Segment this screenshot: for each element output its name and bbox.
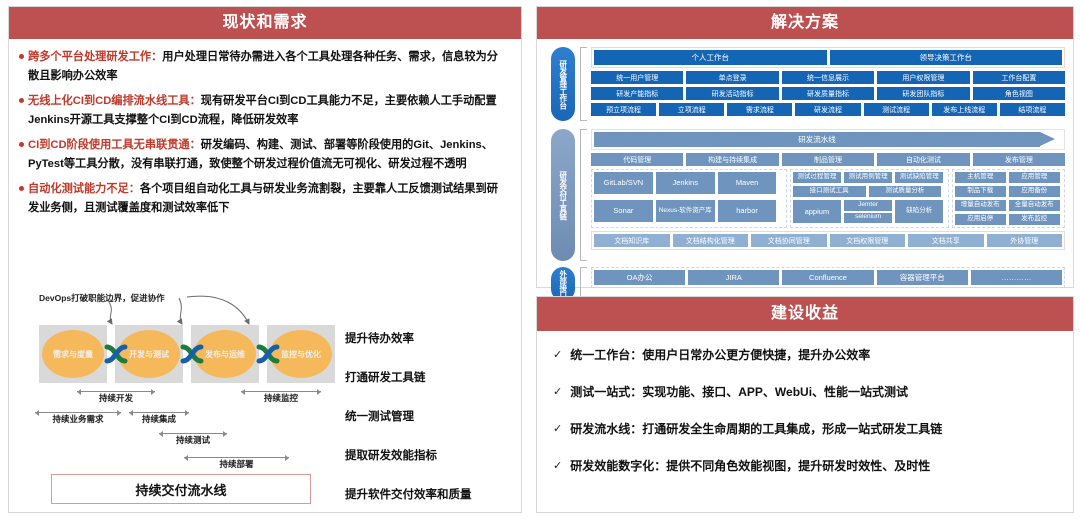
tool-cell[interactable]: 缺陷分析 xyxy=(895,200,943,223)
arch-cell[interactable]: 测试流程 xyxy=(864,103,929,116)
arch-cell[interactable]: 文档权限管理 xyxy=(830,234,906,247)
panel-title-benefits: 建设收益 xyxy=(537,297,1073,331)
tool-cell[interactable]: 制品下载 xyxy=(955,186,1006,197)
measure-span: 持续开发 xyxy=(77,388,155,410)
pipeline-stage-row: 代码管理 构建与持续集成 制品管理 自动化测试 发布管理 xyxy=(591,153,1065,166)
tool-cell[interactable]: selenium xyxy=(844,213,892,224)
benefit-title: 研发流水线： xyxy=(570,422,642,436)
arch-cell[interactable]: 文档结构化管理 xyxy=(673,234,749,247)
panel-solution: 解决方案 研发管理工作台 研发交付工具链 外部接口 个人工作台 领导决策工作台 … xyxy=(536,6,1074,288)
arch-side-label-toolchain: 研发交付工具链 xyxy=(551,129,575,261)
arch-cell[interactable]: 研发流程 xyxy=(795,103,860,116)
status-bullet-list: 跨多个平台处理研发工作：用户处理日常待办需进入各个工具处理各种任务、需求，信息较… xyxy=(9,39,521,218)
tool-box-test: 测试过程管理 测试用例管理 测试缺陷管理 接口测试工具 测试质量分析 appiu… xyxy=(790,169,949,228)
check-icon: ✓ xyxy=(553,384,562,401)
check-icon: ✓ xyxy=(553,458,562,475)
tool-cell[interactable]: 应用备份 xyxy=(1009,186,1060,197)
measure-span: 持续集成 xyxy=(129,409,189,431)
check-icon: ✓ xyxy=(553,421,562,438)
measure-label: 持续测试 xyxy=(159,434,227,446)
tool-cell[interactable]: Nexus-软件资产库 xyxy=(656,200,715,222)
arch-cell[interactable]: 统一用户管理 xyxy=(591,71,683,84)
list-item: 提升软件交付效率和质量 xyxy=(345,474,520,513)
measure-span: 持续业务需求 xyxy=(35,409,121,431)
list-item: 跨多个平台处理研发工作：用户处理日常待办需进入各个工具处理各种任务、需求，信息较… xyxy=(19,48,509,86)
check-icon: ✓ xyxy=(553,347,562,364)
arch-cell[interactable]: 领导决策工作台 xyxy=(830,50,1063,65)
arch-cell[interactable]: Confluence xyxy=(782,270,873,285)
tool-cell[interactable]: 测试质量分析 xyxy=(869,186,942,197)
arch-cell[interactable]: 自动化测试 xyxy=(877,153,969,166)
infinity-icon xyxy=(255,341,281,367)
measure-label: 持续业务需求 xyxy=(35,413,121,425)
benefit-title: 统一工作台： xyxy=(570,348,642,362)
panel-current-status: 现状和需求 跨多个平台处理研发工作：用户处理日常待办需进入各个工具处理各种任务、… xyxy=(8,6,522,513)
arch-cell[interactable]: 角色视图 xyxy=(973,87,1065,100)
tool-box-scm: GitLab/SVN Jenkins Maven Sonar Nexus-软件资… xyxy=(591,169,787,228)
bracket-decoration xyxy=(580,47,587,121)
tool-cell[interactable]: 全量自动发布 xyxy=(1009,200,1060,211)
bullet-dot-icon xyxy=(19,186,24,191)
list-item: ✓ 研发流水线：打通研发全生命周期的工具集成，形成一站式研发工具链 xyxy=(553,421,1059,438)
benefit-body: 实现功能、接口、APP、WebUi、性能一站式测试 xyxy=(642,385,908,399)
arch-cell[interactable]: 统一信息展示 xyxy=(782,71,874,84)
slide-canvas: 现状和需求 跨多个平台处理研发工作：用户处理日常待办需进入各个工具处理各种任务、… xyxy=(0,0,1080,519)
arch-group-workbench: 个人工作台 领导决策工作台 统一用户管理 单点登录 统一信息展示 用户权限管理 … xyxy=(591,47,1065,116)
tool-cell[interactable]: Maven xyxy=(718,172,777,194)
devops-stage-label: 需求与度量 xyxy=(42,330,104,378)
bullet-title: 自动化测试能力不足： xyxy=(28,183,140,195)
arch-cell[interactable]: 研发产能指标 xyxy=(591,87,683,100)
infinity-icon xyxy=(103,341,129,367)
tool-cell[interactable]: Jemter xyxy=(844,200,892,211)
tool-cell[interactable]: 测试缺陷管理 xyxy=(895,172,943,183)
list-item: ✓ 研发效能数字化：提供不同角色效能视图，提升研发时效性、及时性 xyxy=(553,458,1059,475)
benefit-title: 测试一站式： xyxy=(570,385,642,399)
panel-title-solution: 解决方案 xyxy=(537,7,1073,39)
measure-label: 持续集成 xyxy=(129,413,189,425)
arch-cell[interactable]: 文档知识库 xyxy=(594,234,670,247)
list-item: 自动化测试能力不足：各个项目组自动化工具与研发业务流割裂，主要靠人工反馈测试结果… xyxy=(19,180,509,218)
tool-cell[interactable]: 应用启停 xyxy=(955,214,1006,225)
arch-side-label-workbench: 研发管理工作台 xyxy=(551,47,575,121)
devops-stage-row: 需求与度量 开发与测试 发布与运维 监控与优化 xyxy=(39,325,329,383)
measure-label: 持续监控 xyxy=(241,392,321,404)
tool-cell[interactable]: 测试过程管理 xyxy=(793,172,841,183)
bullet-title: CI到CD阶段使用工具无串联贯通： xyxy=(28,139,201,151)
list-item: 提取研发效能指标 xyxy=(345,435,520,474)
list-item: ✓ 测试一站式：实现功能、接口、APP、WebUi、性能一站式测试 xyxy=(553,384,1059,401)
arch-cell[interactable]: 构建与持续集成 xyxy=(686,153,778,166)
arch-cell[interactable]: 单点登录 xyxy=(686,71,778,84)
measure-span: 持续部署 xyxy=(184,454,289,476)
tool-cell[interactable]: GitLab/SVN xyxy=(594,172,653,194)
arch-cell[interactable]: 发布管理 xyxy=(973,153,1065,166)
tool-cell[interactable]: 发布监控 xyxy=(1009,214,1060,225)
arch-cell[interactable]: 制品管理 xyxy=(782,153,874,166)
benefits-checklist: ✓ 统一工作台：使用户日常办公更方便快捷，提升办公效率 ✓ 测试一站式：实现功能… xyxy=(537,331,1073,475)
arch-group-toolchain: 研发流水线 代码管理 构建与持续集成 制品管理 自动化测试 发布管理 GitLa… xyxy=(591,129,1065,250)
arch-cell[interactable]: 工作台配置 xyxy=(973,71,1065,84)
benefit-body: 打通研发全生命周期的工具集成，形成一站式研发工具链 xyxy=(642,422,942,436)
arch-cell[interactable]: OA办公 xyxy=(594,270,685,285)
architecture-diagram: 研发管理工作台 研发交付工具链 外部接口 个人工作台 领导决策工作台 统一用户管… xyxy=(545,45,1065,281)
arch-cell[interactable]: 研发团队指标 xyxy=(877,87,969,100)
tool-cell[interactable]: 增量自动发布 xyxy=(955,200,1006,211)
arch-cell[interactable]: 预立项流程 xyxy=(591,103,656,116)
benefit-body: 提供不同角色效能视图，提升研发时效性、及时性 xyxy=(666,459,930,473)
arch-cell[interactable]: 代码管理 xyxy=(591,153,683,166)
arch-cell[interactable]: 文档共享 xyxy=(908,234,984,247)
arch-cell[interactable]: 结项流程 xyxy=(1000,103,1065,116)
arch-cell[interactable]: JIRA xyxy=(688,270,779,285)
panel-benefits: 建设收益 ✓ 统一工作台：使用户日常办公更方便快捷，提升办公效率 ✓ 测试一站式… xyxy=(536,296,1074,513)
measure-span: 持续监控 xyxy=(241,388,321,410)
bullet-dot-icon xyxy=(19,54,24,59)
tool-cell[interactable]: 接口测试工具 xyxy=(793,186,866,197)
benefit-title: 研发效能数字化： xyxy=(570,459,666,473)
pipeline-arrow-wrap: 研发流水线 xyxy=(591,129,1065,150)
list-item: ✓ 统一工作台：使用户日常办公更方便快捷，提升办公效率 xyxy=(553,347,1059,364)
bullet-dot-icon xyxy=(19,98,24,103)
arch-cell[interactable]: 研发质量指标 xyxy=(782,87,874,100)
arch-cell[interactable]: 容器管理平台 xyxy=(877,270,968,285)
tool-cell[interactable]: 应用管理 xyxy=(1009,172,1060,183)
workbench-mgmt-row: 统一用户管理 单点登录 统一信息展示 用户权限管理 工作台配置 xyxy=(591,71,1065,84)
tool-box-ops: 主机管理 应用管理 制品下载 应用备份 增量自动发布 全量自动发布 应用启停 发… xyxy=(952,169,1065,228)
tool-grid: GitLab/SVN Jenkins Maven Sonar Nexus-软件资… xyxy=(591,169,1065,228)
bullet-title: 无线上化CI到CD编排流水线工具： xyxy=(28,95,201,107)
arch-cell[interactable]: 外协管理 xyxy=(987,234,1063,247)
arch-cell[interactable]: 个人工作台 xyxy=(594,50,827,65)
arch-cell[interactable]: ………… xyxy=(971,270,1062,285)
tool-cell[interactable]: 测试用例管理 xyxy=(844,172,892,183)
arch-cell[interactable]: 需求流程 xyxy=(727,103,792,116)
pipeline-arrow: 研发流水线 xyxy=(594,132,1040,147)
document-row-wrap: 文档知识库 文档结构化管理 文档协同管理 文档权限管理 文档共享 外协管理 xyxy=(591,231,1065,250)
list-item: CI到CD阶段使用工具无串联贯通：研发编码、构建、测试、部署等阶段使用的Git、… xyxy=(19,136,509,174)
tool-cell[interactable]: 主机管理 xyxy=(955,172,1006,183)
workbench-process-row: 预立项流程 立项流程 需求流程 研发流程 测试流程 发布上线流程 结项流程 xyxy=(591,103,1065,116)
devops-stage: 需求与度量 xyxy=(39,325,107,383)
measure-label: 持续开发 xyxy=(77,392,155,404)
arch-group-external: OA办公 JIRA Confluence 容器管理平台 ………… xyxy=(591,267,1065,288)
tool-cell[interactable]: Jenkins xyxy=(656,172,715,194)
panel-title-current-status: 现状和需求 xyxy=(9,7,521,39)
bracket-decoration xyxy=(580,129,587,261)
devops-diagram: DevOps打破职能边界，促进协作 需求与度量 开发与测试 xyxy=(9,282,521,519)
tool-cell[interactable]: harbor xyxy=(718,200,777,222)
workbench-top-row: 个人工作台 领导决策工作台 xyxy=(591,47,1065,68)
list-item: 打通研发工具链 xyxy=(345,357,520,396)
arch-cell[interactable]: 立项流程 xyxy=(659,103,724,116)
arch-cell[interactable]: 研发活动指标 xyxy=(686,87,778,100)
bullet-title: 跨多个平台处理研发工作： xyxy=(28,51,162,63)
external-row-wrap: OA办公 JIRA Confluence 容器管理平台 ………… xyxy=(591,267,1065,288)
infinity-icon xyxy=(179,341,205,367)
benefit-body: 使用户日常办公更方便快捷，提升办公效率 xyxy=(642,348,870,362)
list-item: 统一测试管理 xyxy=(345,396,520,435)
tool-cell[interactable]: appium xyxy=(793,200,841,223)
tool-cell-stack: Jemter selenium xyxy=(844,200,892,223)
arch-cell[interactable]: 用户权限管理 xyxy=(877,71,969,84)
arch-cell[interactable]: 发布上线流程 xyxy=(932,103,997,116)
arch-cell[interactable]: 文档协同管理 xyxy=(751,234,827,247)
bullet-dot-icon xyxy=(19,142,24,147)
devops-benefit-list: 提升待办效率 打通研发工具链 统一测试管理 提取研发效能指标 提升软件交付效率和… xyxy=(345,318,520,513)
continuous-delivery-pipeline-box: 持续交付流水线 xyxy=(51,474,311,504)
tool-cell[interactable]: Sonar xyxy=(594,200,653,222)
measure-span: 持续测试 xyxy=(159,430,227,452)
list-item: 提升待办效率 xyxy=(345,318,520,357)
workbench-metric-row: 研发产能指标 研发活动指标 研发质量指标 研发团队指标 角色视图 xyxy=(591,87,1065,100)
measure-label: 持续部署 xyxy=(184,458,289,470)
list-item: 无线上化CI到CD编排流水线工具：现有研发平台CI到CD工具能力不足，主要依赖人… xyxy=(19,92,509,130)
